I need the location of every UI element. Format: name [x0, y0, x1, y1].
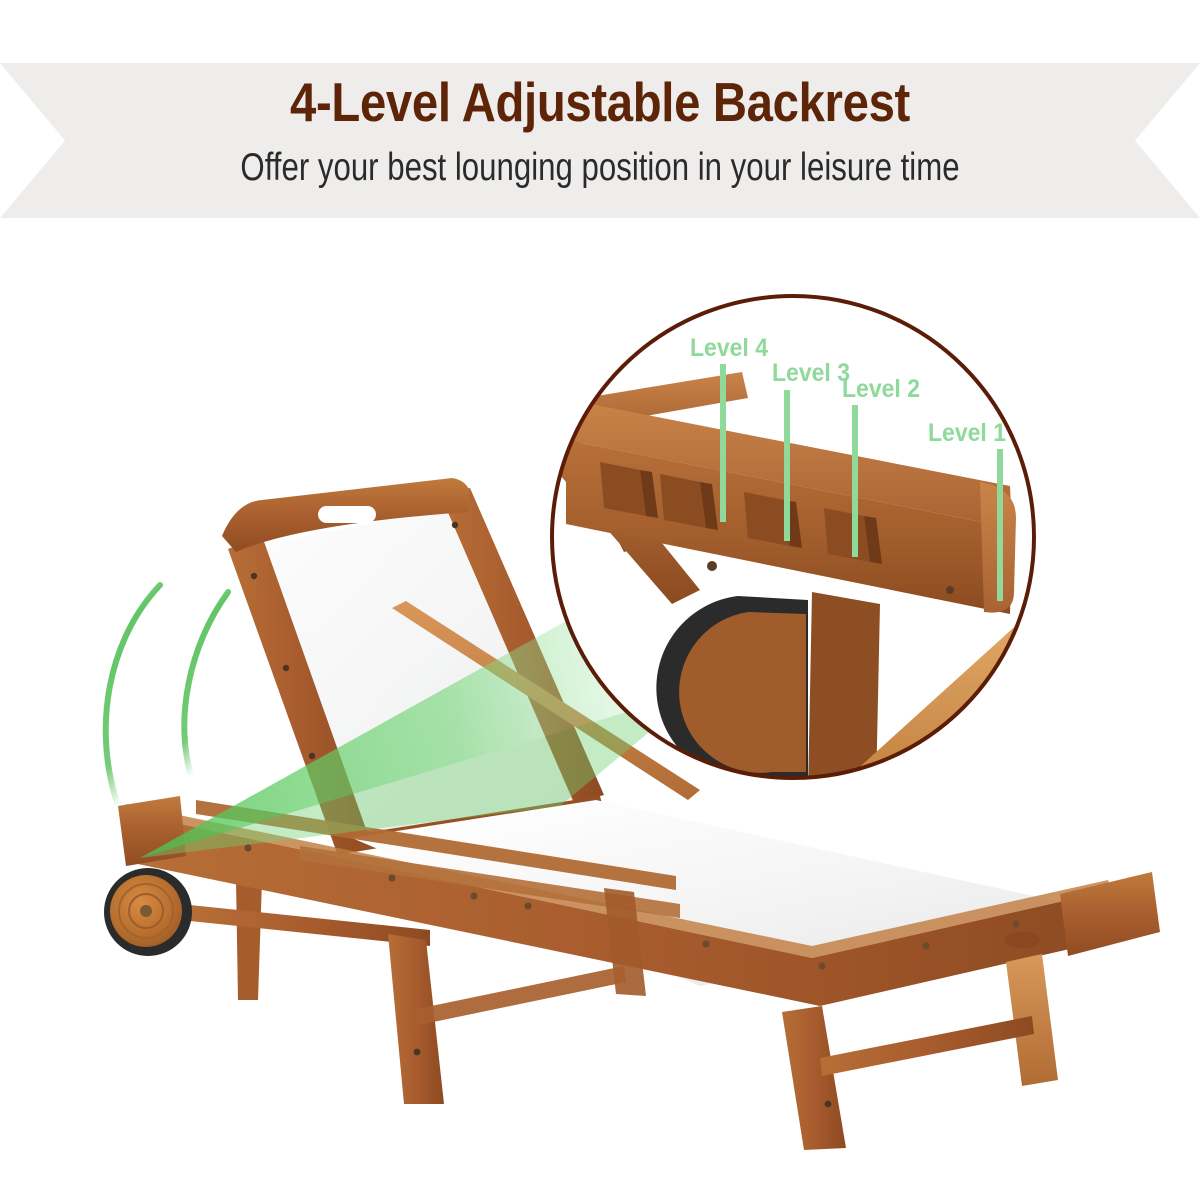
level-4-label: Level 4 [690, 334, 768, 363]
lounger-cross-rail [300, 846, 680, 918]
lounger-stretcher-head [190, 905, 430, 946]
backrest-swing-arcs [106, 585, 228, 806]
backrest-support-strut [392, 601, 700, 800]
page-title: 4-Level Adjustable Backrest [84, 70, 1116, 134]
lounger-legs [388, 888, 1058, 1150]
lounger-seat-sling [352, 800, 1088, 986]
level-2-label: Level 2 [842, 375, 920, 404]
backrest-notch-teeth [600, 462, 882, 564]
lounger-rail-screws [244, 844, 1019, 969]
infographic-page: 4-Level Adjustable Backrest Offer your b… [0, 0, 1200, 1200]
page-subtitle: Offer your best lounging position in you… [120, 146, 1080, 190]
lounger-far-rail [196, 800, 676, 890]
backrest-adjust-wedge [140, 552, 700, 858]
lounger-wheel [104, 868, 192, 956]
lounger-backrest [222, 478, 604, 856]
level-1-label: Level 1 [928, 419, 1006, 448]
foot-cap-slot [1004, 932, 1040, 948]
lounger-rear-leg-head [236, 880, 262, 1000]
backrest-handle-slot [318, 506, 376, 523]
lounger-near-rail [124, 804, 1118, 1006]
lounger-head-cap [118, 796, 186, 866]
lounger-foot-cap [1004, 872, 1160, 956]
level-3-label: Level 3 [772, 359, 850, 388]
